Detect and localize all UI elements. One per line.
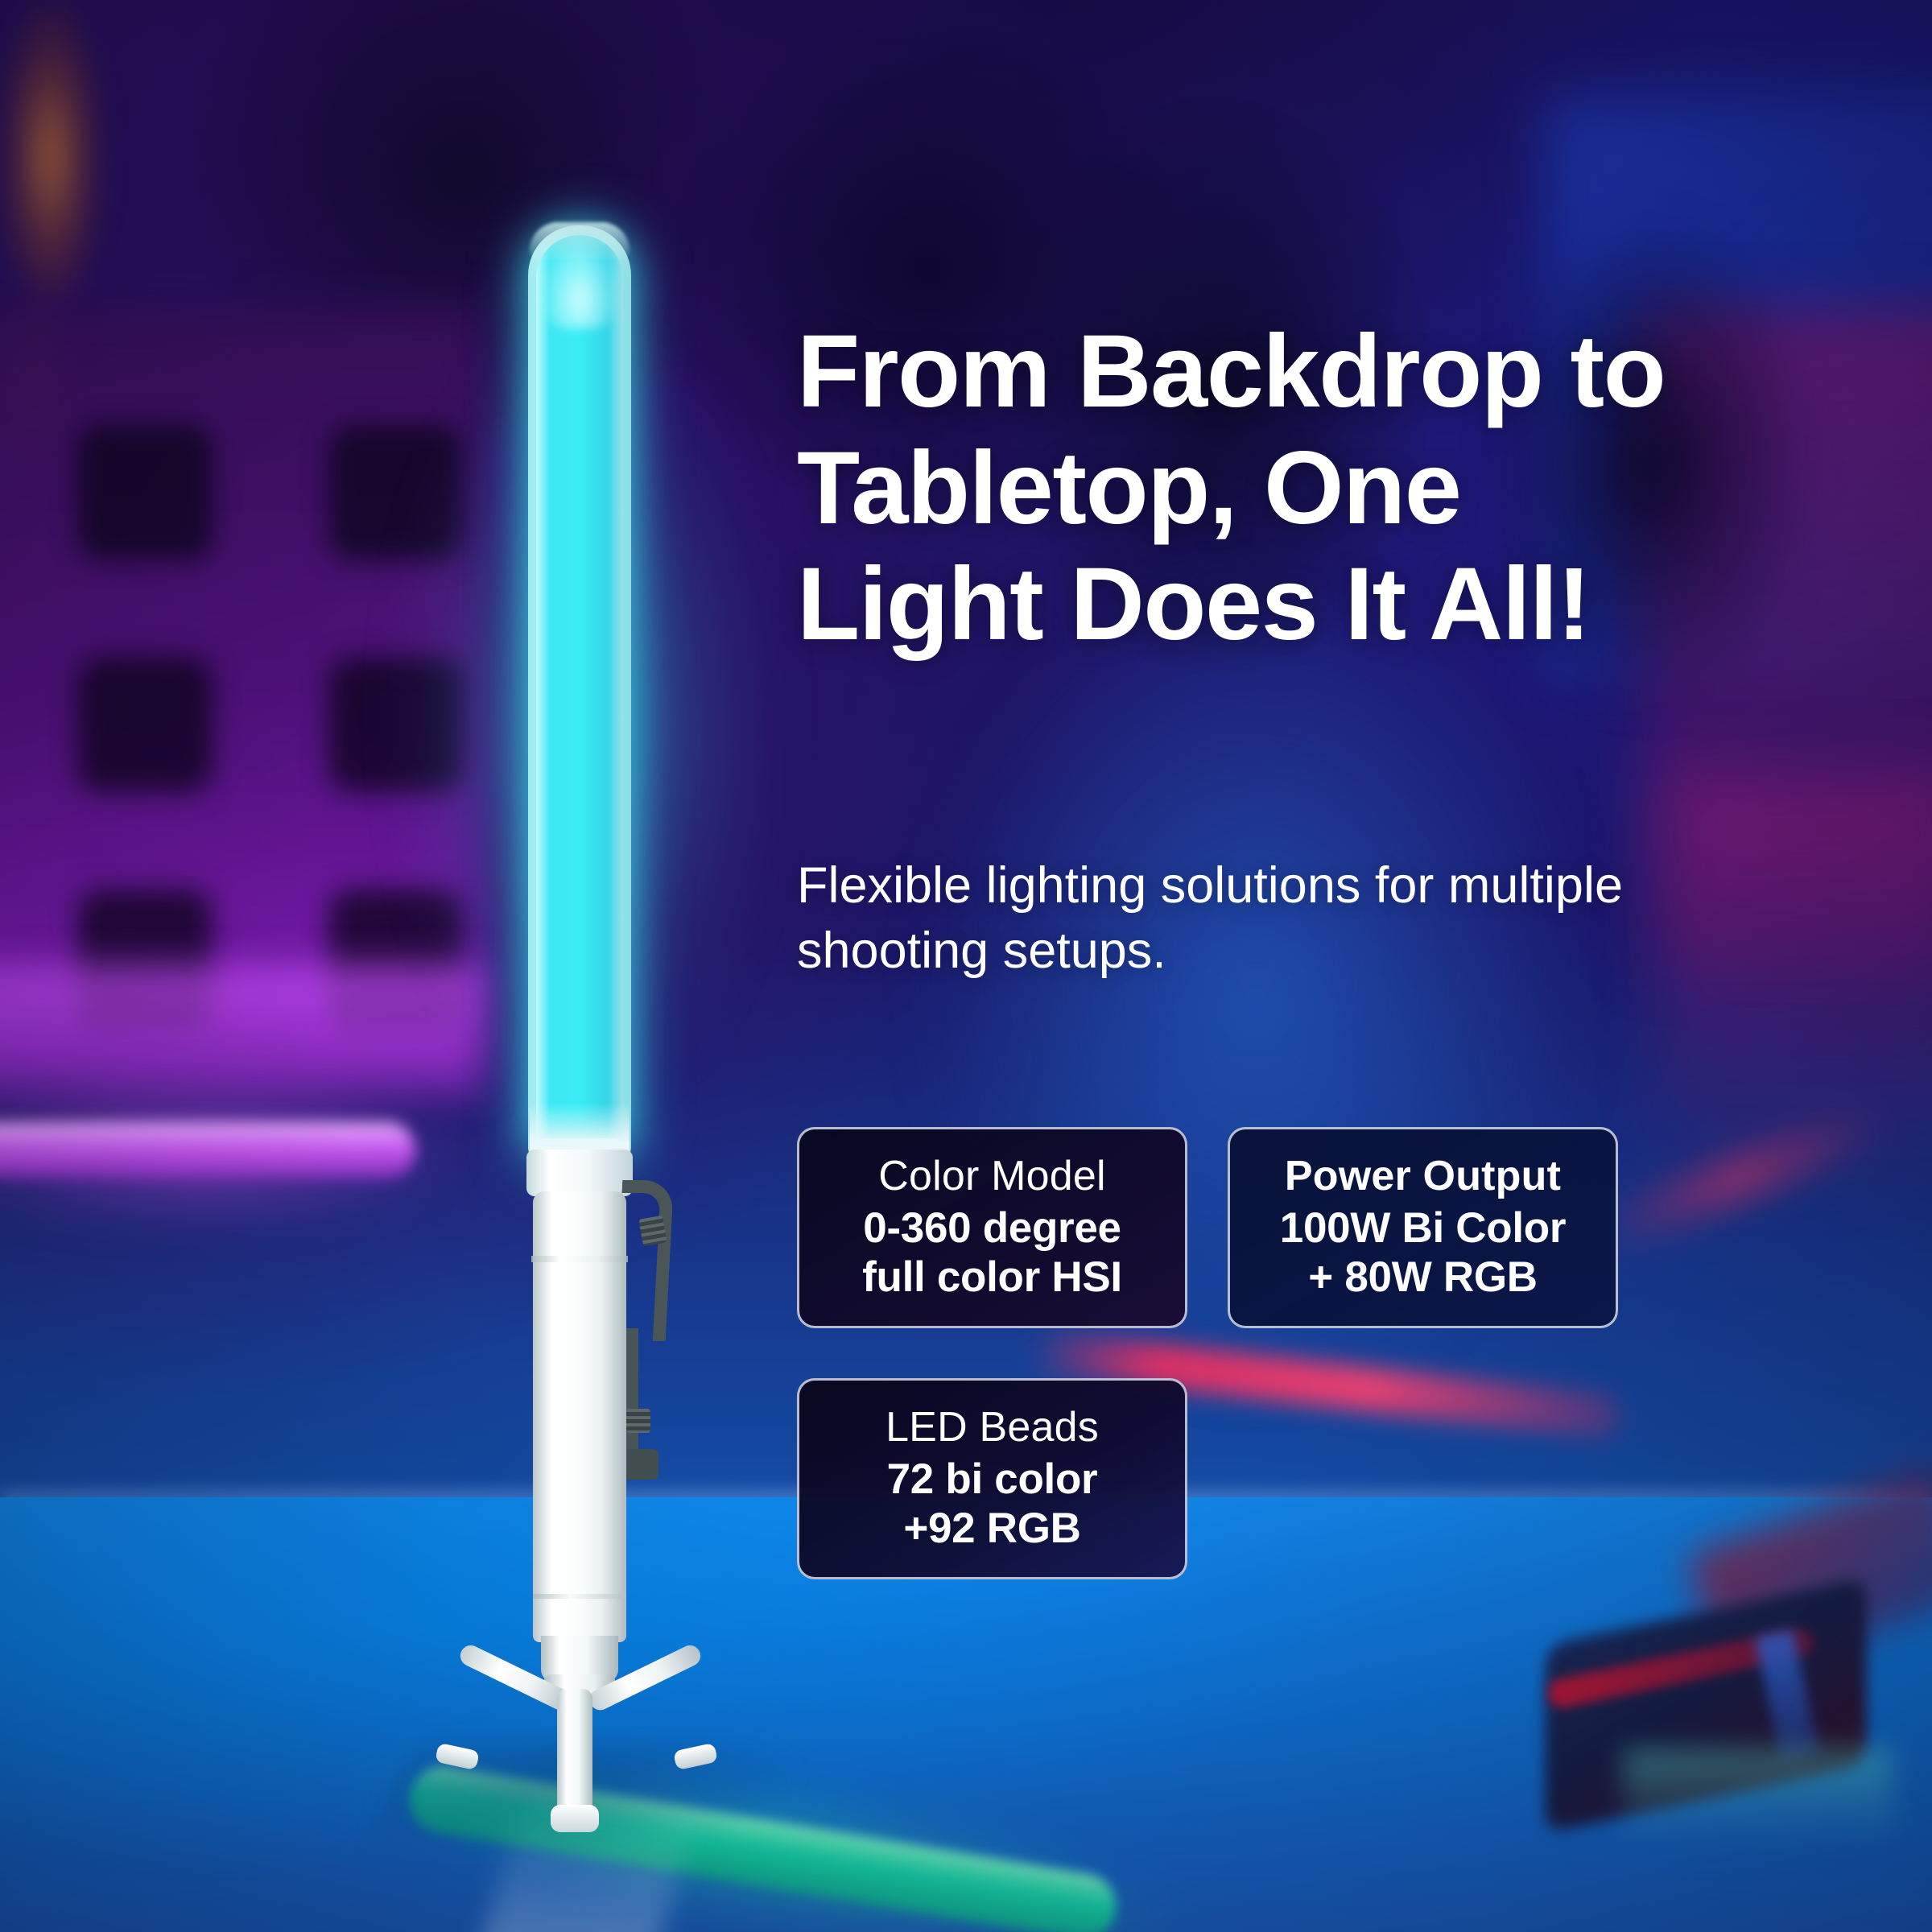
cable-plug <box>621 1449 658 1480</box>
spec-card-color-model: Color Model 0-360 degree full color HSI <box>797 1127 1187 1328</box>
page-title: From Backdrop to Tabletop, One Light Doe… <box>797 314 1699 663</box>
spec-card-title: Power Output <box>1285 1153 1561 1199</box>
spec-card-value-line: 72 bi color <box>887 1455 1098 1504</box>
handle-seam-ring <box>533 1594 626 1599</box>
spec-card-value-line: 0-360 degree <box>863 1203 1121 1253</box>
spec-card-value-line: 100W Bi Color <box>1280 1203 1566 1253</box>
handle-seam-ring <box>531 1256 628 1262</box>
spec-card-title: Color Model <box>878 1153 1106 1199</box>
cable-strain-relief <box>626 1409 650 1433</box>
content-column: From Backdrop to Tabletop, One Light Doe… <box>797 0 1868 1932</box>
spec-card-value-line: full color HSI <box>862 1253 1122 1302</box>
spec-card-value-line: +92 RGB <box>903 1504 1080 1553</box>
spec-card-title: LED Beads <box>885 1404 1099 1451</box>
cable-strain-relief <box>638 1216 667 1247</box>
spec-card-led-beads: LED Beads 72 bi color +92 RGB <box>797 1378 1187 1579</box>
spec-card-power-output: Power Output 100W Bi Color + 80W RGB <box>1228 1127 1618 1328</box>
tube-collar <box>526 1150 633 1196</box>
tube-end-cap <box>530 222 630 259</box>
page-subtitle: Flexible lighting solutions for multiple… <box>797 853 1666 983</box>
product-rgb-tube-light <box>483 225 692 1787</box>
tube-led-core <box>536 235 623 1138</box>
spec-card-value-line: + 80W RGB <box>1308 1253 1537 1302</box>
promo-banner: From Backdrop to Tabletop, One Light Doe… <box>0 0 1932 1932</box>
